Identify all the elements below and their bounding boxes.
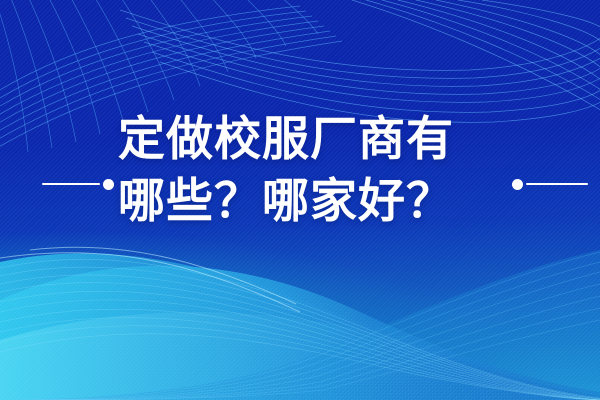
headline-line-1: 定做校服厂商有 bbox=[118, 108, 498, 170]
headline: 定做校服厂商有 哪些？哪家好？ bbox=[118, 108, 498, 232]
left-accent-dot bbox=[103, 179, 114, 190]
left-accent-rule bbox=[42, 177, 114, 191]
right-accent-dot bbox=[512, 179, 523, 190]
banner-graphic: 定做校服厂商有 哪些？哪家好？ bbox=[0, 0, 600, 400]
headline-line-2: 哪些？哪家好？ bbox=[118, 170, 498, 232]
right-accent-line bbox=[526, 183, 588, 185]
right-accent-rule bbox=[512, 177, 588, 191]
left-accent-line bbox=[42, 183, 100, 185]
